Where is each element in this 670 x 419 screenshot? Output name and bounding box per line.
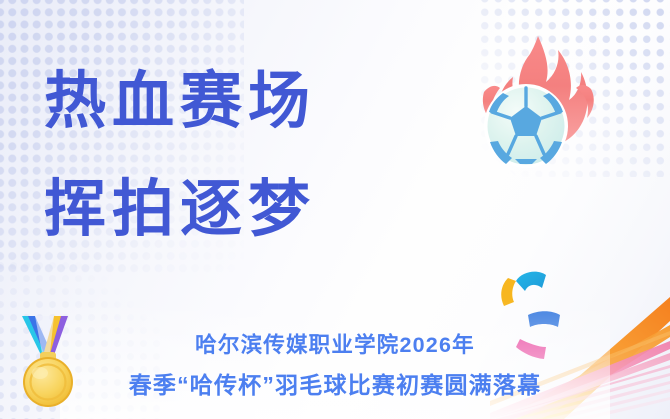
subtitle-line-1: 哈尔滨传媒职业学院2026年 bbox=[0, 325, 670, 365]
flaming-soccer-ball-icon bbox=[470, 28, 600, 173]
poster-headline: 热血赛场 挥拍逐梦 bbox=[44, 48, 316, 264]
headline-line-1: 热血赛场 bbox=[44, 48, 316, 156]
poster-subtitle: 哈尔滨传媒职业学院2026年 春季“哈传杯”羽毛球比赛初赛圆满落幕 bbox=[0, 325, 670, 405]
subtitle-line-2: 春季“哈传杯”羽毛球比赛初赛圆满落幕 bbox=[0, 365, 670, 405]
poster-canvas: 热血赛场 挥拍逐梦 bbox=[0, 0, 670, 419]
headline-line-2: 挥拍逐梦 bbox=[44, 156, 316, 264]
